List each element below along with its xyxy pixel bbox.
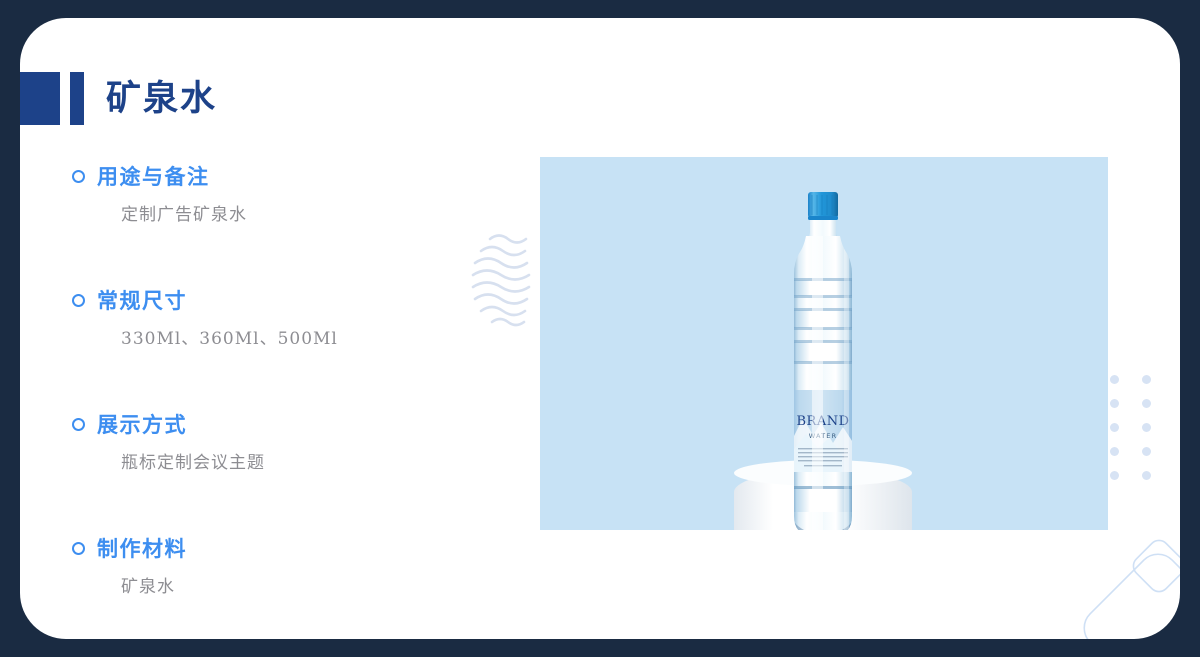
dot [1110,471,1119,480]
spec-head: 展示方式 [72,409,492,439]
spec-list: 用途与备注 定制广告矿泉水 常规尺寸 330Ml、360Ml、500Ml 展示方… [72,161,492,639]
spec-head: 常规尺寸 [72,285,492,315]
dot [1110,423,1119,432]
spec-title: 制作材料 [97,538,187,559]
dot [1142,399,1151,408]
wave-lines-icon [468,231,550,331]
dot [1142,423,1151,432]
spec-desc: 定制广告矿泉水 [121,205,492,225]
title-accent-block-large [20,72,60,125]
spec-head: 制作材料 [72,533,492,563]
content-card: 矿泉水 用途与备注 定制广告矿泉水 常规尺寸 330Ml、360Ml、500Ml [20,18,1180,639]
product-image-panel: BRAND WATER [540,157,1108,530]
circle-outline-icon [72,294,85,307]
spec-desc: 瓶标定制会议主题 [121,453,492,473]
spec-title: 展示方式 [97,414,187,435]
spec-desc: 330Ml、360Ml、500Ml [121,329,492,349]
spec-desc: 矿泉水 [121,577,492,597]
spec-item-display[interactable]: 展示方式 瓶标定制会议主题 [72,409,492,533]
spec-title: 用途与备注 [97,166,210,187]
dot [1142,471,1151,480]
title-text: 矿泉水 [106,81,217,116]
spec-item-size[interactable]: 常规尺寸 330Ml、360Ml、500Ml [72,285,492,409]
dot [1110,375,1119,384]
slide-root: 矿泉水 用途与备注 定制广告矿泉水 常规尺寸 330Ml、360Ml、500Ml [0,0,1200,657]
spec-title: 常规尺寸 [97,290,187,311]
circle-outline-icon [72,170,85,183]
dot [1110,399,1119,408]
page-title: 矿泉水 [20,68,217,128]
circle-outline-icon [72,542,85,555]
dot [1142,447,1151,456]
spec-item-usage[interactable]: 用途与备注 定制广告矿泉水 [72,161,492,285]
rounded-diamond-icon [1020,518,1180,639]
dot [1110,447,1119,456]
water-bottle-illustration: BRAND WATER [776,192,870,530]
dot [1142,375,1151,384]
spec-item-material[interactable]: 制作材料 矿泉水 [72,533,492,639]
dot-grid-icon [1110,375,1174,495]
spec-head: 用途与备注 [72,161,492,191]
circle-outline-icon [72,418,85,431]
title-accent-block-small [70,72,84,125]
